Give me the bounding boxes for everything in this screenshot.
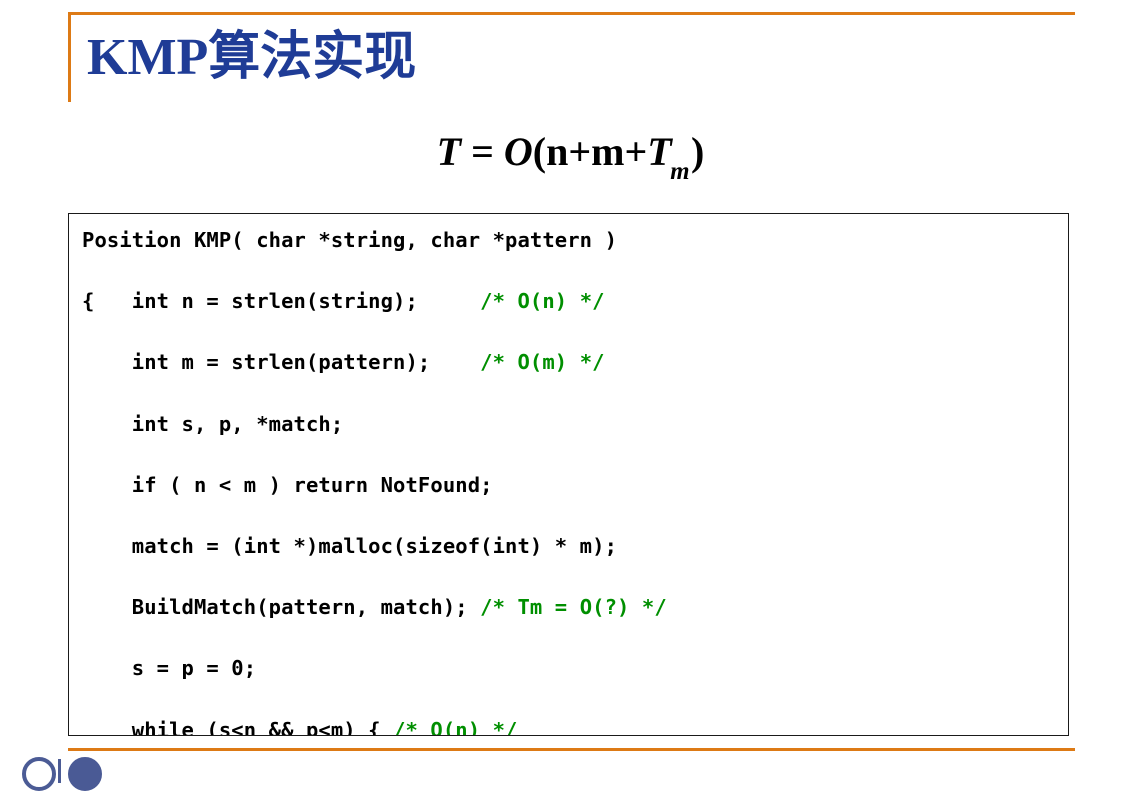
complexity-formula: T = O(n+m+Tm) — [0, 128, 1141, 181]
code-text: if ( n < m ) return NotFound; — [82, 473, 493, 497]
logo-ring-right — [68, 757, 102, 791]
code-line: Position KMP( char *string, char *patter… — [82, 225, 1068, 256]
logo-ring-left — [22, 757, 56, 791]
page-title: KMP算法实现 — [71, 32, 416, 84]
code-comment: /* Tm = O(?) */ — [480, 595, 667, 619]
code-line: while (s<n && p<m) { /* O(n) */ — [82, 715, 1068, 737]
code-line: match = (int *)malloc(sizeof(int) * m); — [82, 531, 1068, 562]
code-text: BuildMatch(pattern, match); — [82, 595, 480, 619]
title-block: KMP算法实现 — [68, 14, 416, 102]
code-text: match = (int *)malloc(sizeof(int) * m); — [82, 534, 617, 558]
formula-t-symbol: T — [647, 129, 671, 174]
code-line: { int n = strlen(string); /* O(n) */ — [82, 286, 1068, 317]
code-text: s = p = 0; — [82, 656, 256, 680]
formula-lhs: T — [437, 129, 461, 174]
institution-logo-icon — [22, 757, 142, 787]
code-block-container: Position KMP( char *string, char *patter… — [68, 213, 1069, 736]
formula-spacer-1 — [461, 129, 471, 174]
formula-big-o: O — [504, 129, 533, 174]
code-text: Position KMP( char *string, char *patter… — [82, 228, 617, 252]
code-comment: /* O(n) */ — [480, 289, 604, 313]
formula-open-paren: ( — [533, 129, 546, 174]
code-text: { int n = strlen(string); — [82, 289, 480, 313]
code-text: while (s<n && p<m) { — [82, 718, 393, 737]
code-line: if ( n < m ) return NotFound; — [82, 470, 1068, 501]
code-line: int s, p, *match; — [82, 409, 1068, 440]
code-line: int m = strlen(pattern); /* O(m) */ — [82, 347, 1068, 378]
code-line: s = p = 0; — [82, 653, 1068, 684]
formula-spacer-2 — [494, 129, 504, 174]
code-listing: Position KMP( char *string, char *patter… — [69, 214, 1068, 736]
formula-terms: n+m+ — [546, 129, 647, 174]
code-text: int s, p, *match; — [82, 412, 343, 436]
formula-close-paren: ) — [691, 129, 704, 174]
logo-tick — [58, 759, 61, 783]
formula-t-subscript: m — [670, 158, 689, 185]
code-comment: /* O(n) */ — [393, 718, 517, 737]
footer-rule — [68, 748, 1075, 751]
code-line: BuildMatch(pattern, match); /* Tm = O(?)… — [82, 592, 1068, 623]
formula-equals: = — [471, 129, 494, 174]
code-comment: /* O(m) */ — [480, 350, 604, 374]
code-text: int m = strlen(pattern); — [82, 350, 480, 374]
